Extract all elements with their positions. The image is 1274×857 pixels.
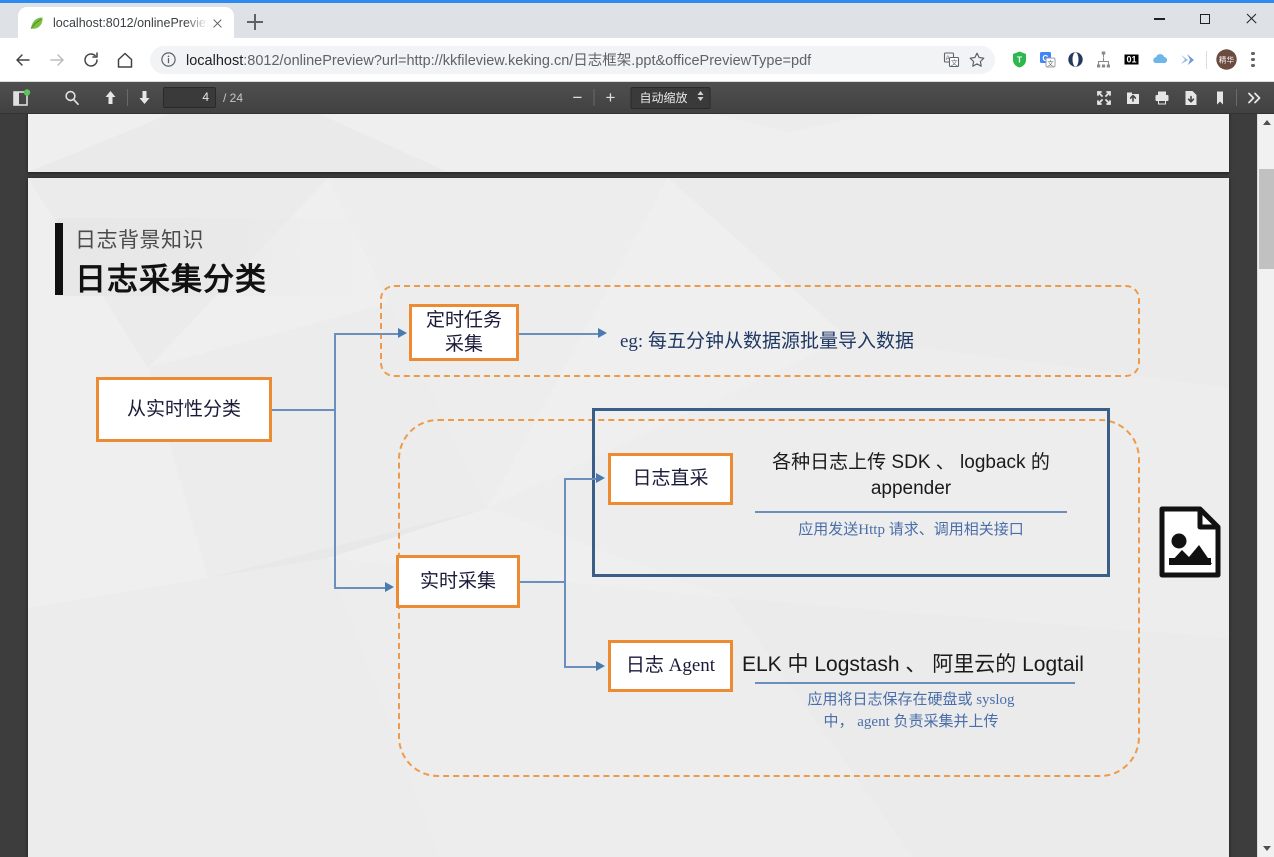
tab-title: localhost:8012/onlinePreview? [53,16,208,30]
bird-extension-icon[interactable] [1173,46,1201,74]
home-button[interactable] [110,45,140,75]
window-controls [1136,0,1274,38]
cloud-extension-icon[interactable] [1145,46,1173,74]
node-realtime-collection: 实时采集 [396,555,520,608]
opera-extension-icon[interactable] [1061,46,1089,74]
url-text: localhost:8012/onlinePreview?url=http://… [186,49,937,70]
scroll-down-arrow[interactable] [1258,840,1274,857]
current-page: 日志背景知识 日志采集分类 [28,178,1229,857]
agent-description: ELK 中 Logstash 、 阿里云的 Logtail [728,651,1098,679]
broken-image-icon [1158,506,1222,578]
direct-description-line2: appender [746,476,1076,502]
print-icon[interactable] [1147,85,1176,111]
toolbar-divider [1236,89,1237,106]
pdf-viewer-area[interactable]: 日志背景知识 日志采集分类 [0,114,1274,857]
node-root: 从实时性分类 [96,377,272,442]
navigation-toolbar: localhost:8012/onlinePreview?url=http://… [0,38,1274,82]
three-dots-menu-icon[interactable] [1240,46,1266,74]
connector-realtime-h [520,581,565,583]
zoom-in-button[interactable]: + [596,86,624,110]
connector-to-realtime [334,587,386,589]
zoom-controls: − + 自动缩放 [563,86,710,110]
tab-close-icon[interactable] [208,14,226,32]
info-circle-icon[interactable] [160,51,177,68]
toolbar-divider [1206,51,1207,69]
network-extension-icon[interactable] [1089,46,1117,74]
extension-toolbar: T G文 01 精华 [1001,46,1266,74]
reload-button[interactable] [76,45,106,75]
sidebar-toggle-icon[interactable] [6,85,35,111]
tab-strip: localhost:8012/onlinePreview? [0,0,1274,38]
back-button[interactable] [8,45,38,75]
close-button[interactable] [1228,0,1274,38]
zoom-select-value: 自动缩放 [639,91,687,105]
connector-to-direct [564,478,598,480]
google-translate-extension-icon[interactable]: G文 [1033,46,1061,74]
slide-content: 日志背景知识 日志采集分类 [28,178,1229,857]
direct-divider [755,511,1067,513]
toolbar-divider [127,89,128,106]
minimize-button[interactable] [1136,0,1182,38]
slide-subtitle: 日志背景知识 [75,224,204,254]
translate-icon[interactable]: 文A [939,48,963,72]
svg-text:文: 文 [1047,58,1054,67]
svg-text:A: A [945,56,949,62]
shield-extension-icon[interactable]: T [1005,46,1033,74]
slide-title: 日志采集分类 [75,254,267,299]
agent-subtext-line2: 中， agent 负责采集并上传 [746,712,1076,734]
connector-to-timer [334,333,400,335]
pdf-viewer-toolbar: 4 / 24 − + 自动缩放 [0,82,1274,114]
bookmark-icon[interactable] [1205,85,1234,111]
node-timer-collection: 定时任务 采集 [409,304,519,361]
zero-one-extension-icon[interactable]: 01 [1117,46,1145,74]
connector-root-h [272,409,334,411]
profile-avatar[interactable]: 精华 [1212,46,1240,74]
star-icon[interactable] [965,48,989,72]
arrow-to-eg [598,328,607,338]
direct-description-line1: 各种日志上传 SDK 、 logback 的 [746,450,1076,476]
connector-trunk-1 [334,333,336,589]
connector-trunk-2 [564,478,566,667]
zoom-out-button[interactable]: − [563,86,591,110]
agent-subtext-line1: 应用将日志保存在硬盘或 syslog [746,690,1076,712]
url-host: localhost [186,53,243,69]
next-page-button[interactable] [130,85,159,111]
direct-subtext: 应用发送Http 请求、调用相关接口 [746,520,1076,542]
forward-button [42,45,72,75]
svg-text:T: T [1016,55,1022,65]
spinner-icon [698,91,704,101]
connector-to-agent [564,666,598,668]
arrow-to-realtime [385,582,394,592]
toolbar-divider [593,89,594,106]
title-accent-bar [55,223,63,295]
vertical-scrollbar[interactable] [1257,114,1274,857]
browser-window: localhost:8012/onlinePreview? localhost [0,0,1274,857]
open-file-icon[interactable] [1118,85,1147,111]
new-tab-button[interactable] [240,8,270,36]
eg-text: eg: 每五分钟从数据源批量导入数据 [620,326,914,353]
pdf-toolbar-right [1089,85,1268,111]
leaf-icon [28,15,45,32]
svg-text:01: 01 [1126,55,1136,65]
maximize-button[interactable] [1182,0,1228,38]
browser-tab[interactable]: localhost:8012/onlinePreview? [18,7,234,39]
svg-text:文: 文 [950,58,957,67]
node-log-agent: 日志 Agent [608,640,733,692]
previous-page [28,114,1229,172]
prev-page-button[interactable] [96,85,125,111]
arrow-to-agent [596,661,605,671]
agent-divider [755,682,1075,684]
search-icon[interactable] [57,85,86,111]
fullscreen-icon[interactable] [1089,85,1118,111]
zoom-select[interactable]: 自动缩放 [630,87,710,109]
svg-text:精华: 精华 [1218,55,1234,65]
url-rest: :8012/onlinePreview?url=http://kkfilevie… [243,53,811,69]
connector-timer-eg [519,333,601,335]
page-total-label: / 24 [223,91,243,105]
page-number-input[interactable]: 4 [163,87,216,108]
node-timer-label: 定时任务 采集 [426,309,502,357]
download-icon[interactable] [1176,85,1205,111]
double-chevron-right-icon[interactable] [1239,85,1268,111]
arrow-to-timer [398,328,407,338]
scroll-up-arrow[interactable] [1258,114,1274,131]
arrow-to-direct [596,473,605,483]
scroll-thumb[interactable] [1259,169,1274,269]
node-direct-log: 日志直采 [608,453,733,505]
address-bar[interactable]: localhost:8012/onlinePreview?url=http://… [150,46,995,74]
